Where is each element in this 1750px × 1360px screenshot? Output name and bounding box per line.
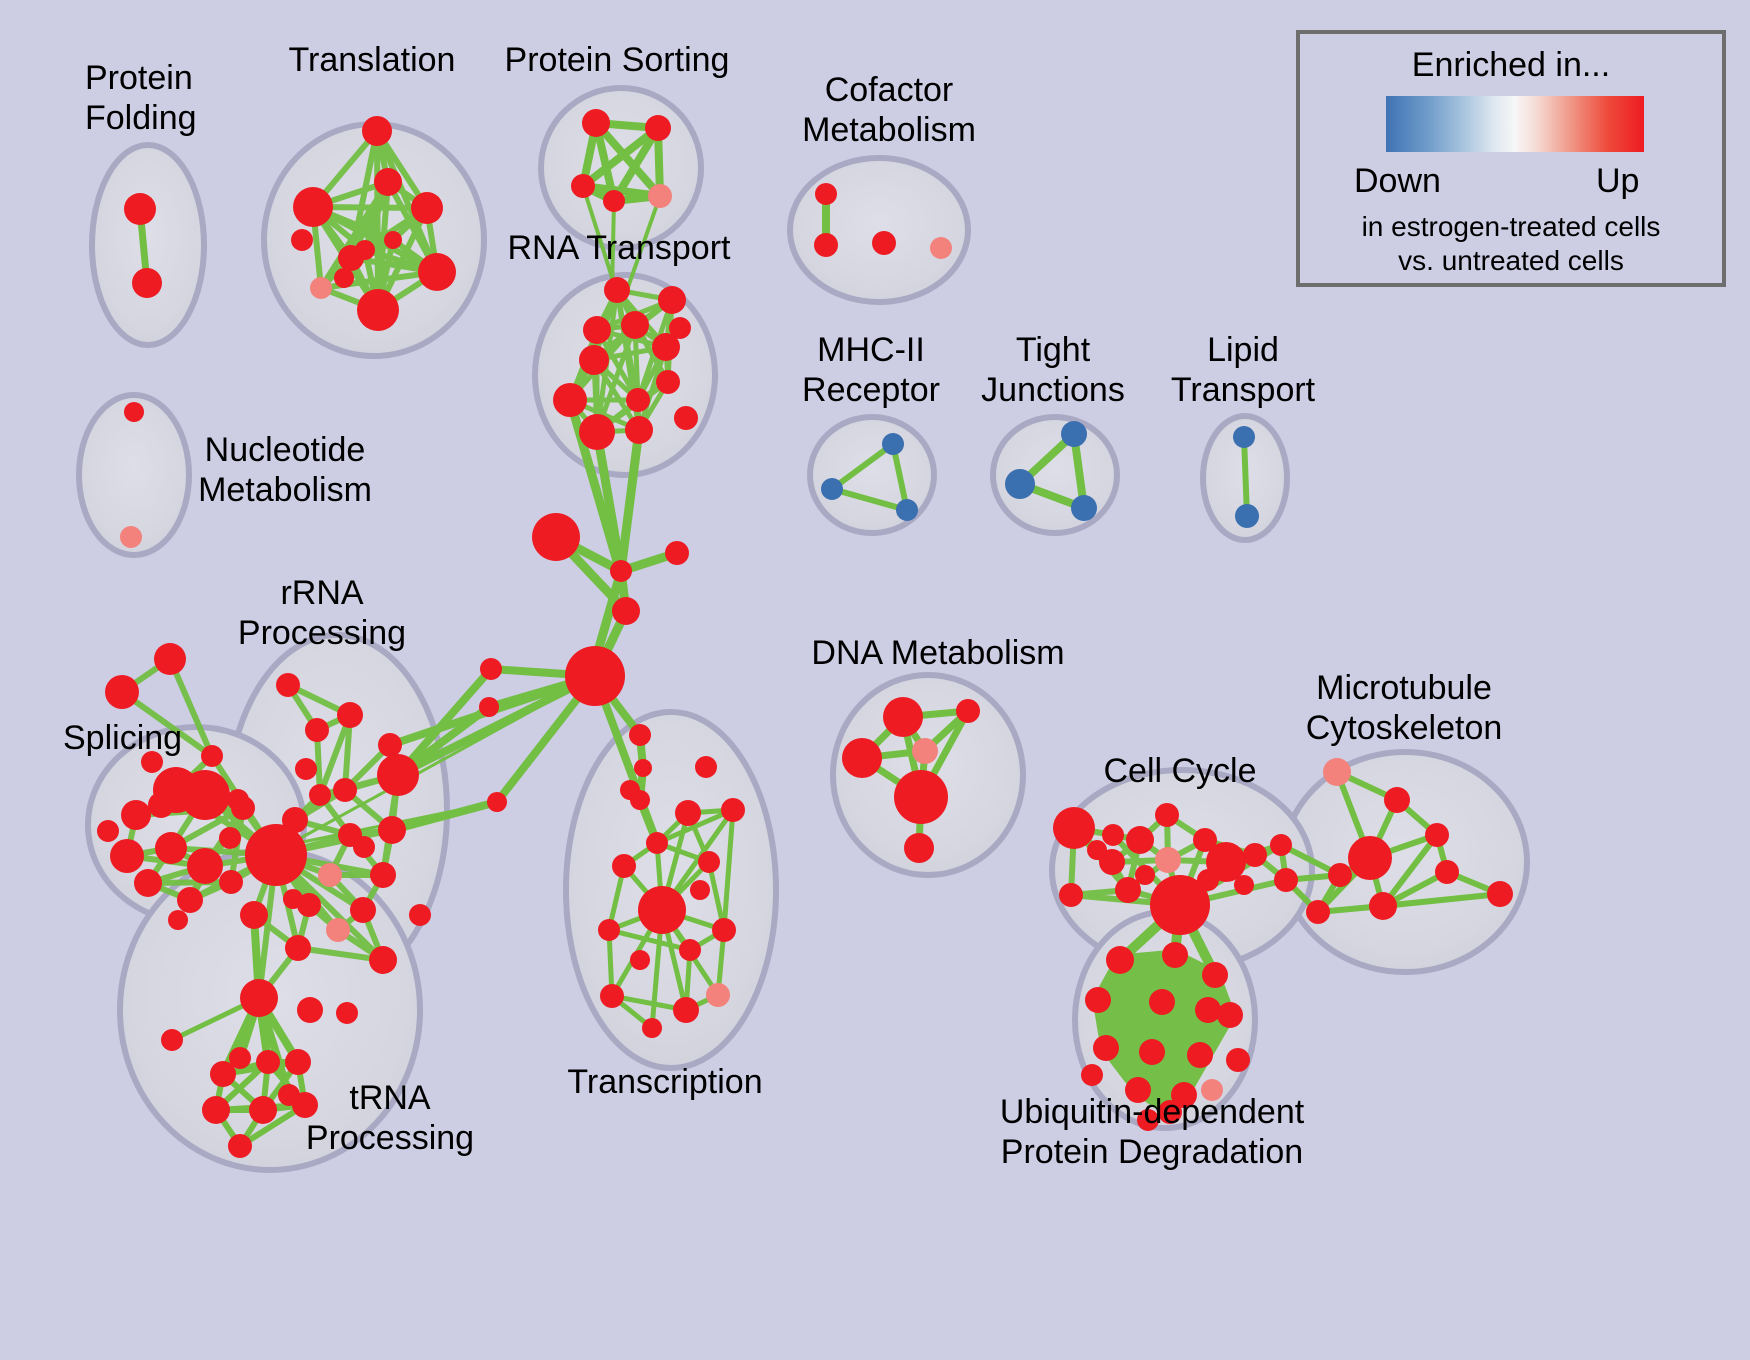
legend-box: Enriched in... Down Up in estrogen-treat… [1296, 30, 1726, 287]
node [1155, 847, 1181, 873]
node [245, 824, 307, 886]
node [612, 597, 640, 625]
node [565, 646, 625, 706]
node [894, 770, 948, 824]
node [872, 231, 896, 255]
node [603, 190, 625, 212]
node [721, 798, 745, 822]
cluster-label-mhc-ii-receptor: MHC-II Receptor [802, 330, 940, 410]
node [1155, 803, 1179, 827]
node [1435, 860, 1459, 884]
node [132, 268, 162, 298]
node [154, 643, 186, 675]
node [1061, 421, 1087, 447]
node [626, 388, 650, 412]
node [625, 416, 653, 444]
node [249, 1096, 277, 1124]
node [357, 289, 399, 331]
node [1217, 1002, 1243, 1028]
node [168, 910, 188, 930]
node [1348, 836, 1392, 880]
cluster-label-translation: Translation [289, 40, 456, 80]
node [912, 738, 938, 764]
legend-low-label: Down [1354, 162, 1441, 201]
cluster-label-rna-transport: RNA Transport [508, 228, 731, 268]
node [598, 919, 620, 941]
cluster-label-protein-folding: Protein Folding [85, 58, 197, 138]
node [600, 984, 624, 1008]
node [411, 192, 443, 224]
node [1087, 840, 1107, 860]
node [105, 675, 139, 709]
enrichment-network-figure: Protein Folding Translation Protein Sort… [0, 0, 1750, 1360]
node [479, 697, 499, 717]
node [896, 499, 918, 521]
node [695, 756, 717, 778]
node [1005, 469, 1035, 499]
node [1093, 1035, 1119, 1061]
node [285, 1049, 311, 1075]
node [821, 478, 843, 500]
node [1126, 826, 1154, 854]
cluster-label-protein-sorting: Protein Sorting [505, 40, 730, 80]
node [579, 414, 615, 450]
node [1085, 987, 1111, 1013]
node [1270, 834, 1292, 856]
node [1102, 824, 1124, 846]
cluster-label-cofactor-metabolism: Cofactor Metabolism [802, 70, 976, 150]
node [240, 979, 278, 1017]
cluster-label-dna-metabolism: DNA Metabolism [811, 633, 1064, 673]
node [362, 116, 392, 146]
node [690, 880, 710, 900]
node [621, 311, 649, 339]
node [1306, 900, 1330, 924]
node [1233, 426, 1255, 448]
node [180, 770, 230, 820]
node [124, 193, 156, 225]
node [355, 240, 375, 260]
node [326, 918, 350, 942]
node [1234, 875, 1254, 895]
node [297, 997, 323, 1023]
node [629, 724, 651, 746]
node [187, 848, 223, 884]
node [553, 383, 587, 417]
node [1197, 869, 1219, 891]
node [283, 889, 303, 909]
node [1059, 883, 1083, 907]
node [1487, 881, 1513, 907]
node [658, 286, 686, 314]
hull-protein-folding [92, 145, 204, 345]
node [669, 317, 691, 339]
node [904, 833, 934, 863]
node [293, 187, 333, 227]
node [161, 1029, 183, 1051]
node [571, 174, 595, 198]
node [1369, 892, 1397, 920]
node [202, 1096, 230, 1124]
node [480, 658, 502, 680]
node [291, 229, 313, 251]
colorbar-gradient [1386, 96, 1644, 152]
cluster-label-microtubule-cytoskeleton: Microtubule Cytoskeleton [1306, 668, 1503, 748]
node [583, 316, 611, 344]
node [582, 109, 610, 137]
node [318, 863, 342, 887]
node [1235, 504, 1259, 528]
node [579, 345, 609, 375]
node [1149, 989, 1175, 1015]
node [377, 754, 419, 796]
node [604, 277, 630, 303]
node [369, 946, 397, 974]
node [646, 832, 668, 854]
legend-subtitle: in estrogen-treated cellsvs. untreated c… [1300, 210, 1722, 278]
cluster-label-nucleotide-metabolism: Nucleotide Metabolism [198, 430, 372, 510]
node [120, 526, 142, 548]
node [1106, 946, 1134, 974]
node [1195, 997, 1221, 1023]
node [350, 897, 376, 923]
node [336, 1002, 358, 1024]
hull-protein-sorting [541, 88, 701, 248]
node [1139, 1039, 1165, 1065]
node [229, 1047, 251, 1069]
node [278, 1084, 300, 1106]
node [309, 784, 331, 806]
node [240, 901, 268, 929]
node [674, 406, 698, 430]
legend-subtitle-line2: vs. untreated cells [1398, 245, 1624, 276]
node [642, 1018, 662, 1038]
node [418, 253, 456, 291]
cluster-label-ubiquitin-protein-degradation: Ubiquitin-dependent Protein Degradation [1000, 1092, 1304, 1172]
node [201, 745, 223, 767]
node [378, 816, 406, 844]
node [337, 702, 363, 728]
node [673, 997, 699, 1023]
node [712, 918, 736, 942]
node [612, 854, 636, 878]
cluster-label-lipid-transport: Lipid Transport [1171, 330, 1315, 410]
node [333, 778, 357, 802]
node [1187, 1042, 1213, 1068]
node [1328, 863, 1352, 887]
node [1226, 1048, 1250, 1072]
node [706, 983, 730, 1007]
node [1243, 843, 1267, 867]
node [675, 800, 701, 826]
cluster-label-cell-cycle: Cell Cycle [1103, 751, 1256, 791]
cluster-label-tight-junctions: Tight Junctions [981, 330, 1125, 410]
node [882, 433, 904, 455]
cluster-label-transcription: Transcription [567, 1062, 762, 1102]
node [883, 697, 923, 737]
node [956, 699, 980, 723]
node [334, 268, 354, 288]
node [155, 832, 187, 864]
node [148, 792, 174, 818]
node [295, 758, 317, 780]
node [219, 870, 243, 894]
node [409, 904, 431, 926]
node [634, 759, 652, 777]
node [384, 231, 402, 249]
node [698, 851, 720, 873]
node [370, 862, 396, 888]
cluster-label-splicing: Splicing [63, 718, 182, 758]
node [285, 935, 311, 961]
node [97, 820, 119, 842]
node [219, 827, 241, 849]
node [1425, 823, 1449, 847]
node [656, 370, 680, 394]
node [930, 237, 952, 259]
node [134, 869, 162, 897]
node [256, 1050, 280, 1074]
node [532, 513, 580, 561]
node [310, 277, 332, 299]
node [1071, 495, 1097, 521]
node [177, 887, 203, 913]
node [610, 560, 632, 582]
node [630, 950, 650, 970]
node [110, 839, 144, 873]
node [814, 233, 838, 257]
node [228, 1134, 252, 1158]
node [276, 673, 300, 697]
cluster-label-rrna-processing: rRNA Processing [238, 573, 406, 653]
node [665, 541, 689, 565]
node [353, 836, 375, 858]
node [121, 800, 151, 830]
node [487, 792, 507, 812]
node [1274, 868, 1298, 892]
node [842, 738, 882, 778]
node [648, 184, 672, 208]
node [378, 733, 402, 757]
node [1202, 962, 1228, 988]
node [1323, 758, 1351, 786]
node [124, 402, 144, 422]
node [374, 168, 402, 196]
hull-cofactor [790, 158, 968, 302]
node [815, 183, 837, 205]
legend-subtitle-line1: in estrogen-treated cells [1362, 211, 1661, 242]
node [1135, 865, 1155, 885]
node [638, 886, 686, 934]
node [305, 718, 329, 742]
legend-high-label: Up [1596, 162, 1639, 201]
cluster-label-trna-processing: tRNA Processing [306, 1078, 474, 1158]
node [1081, 1064, 1103, 1086]
node [1162, 942, 1188, 968]
node [620, 780, 640, 800]
legend-title: Enriched in... [1300, 46, 1722, 85]
node [1384, 787, 1410, 813]
node [645, 115, 671, 141]
node [1053, 807, 1095, 849]
node [227, 789, 249, 811]
node [679, 939, 701, 961]
